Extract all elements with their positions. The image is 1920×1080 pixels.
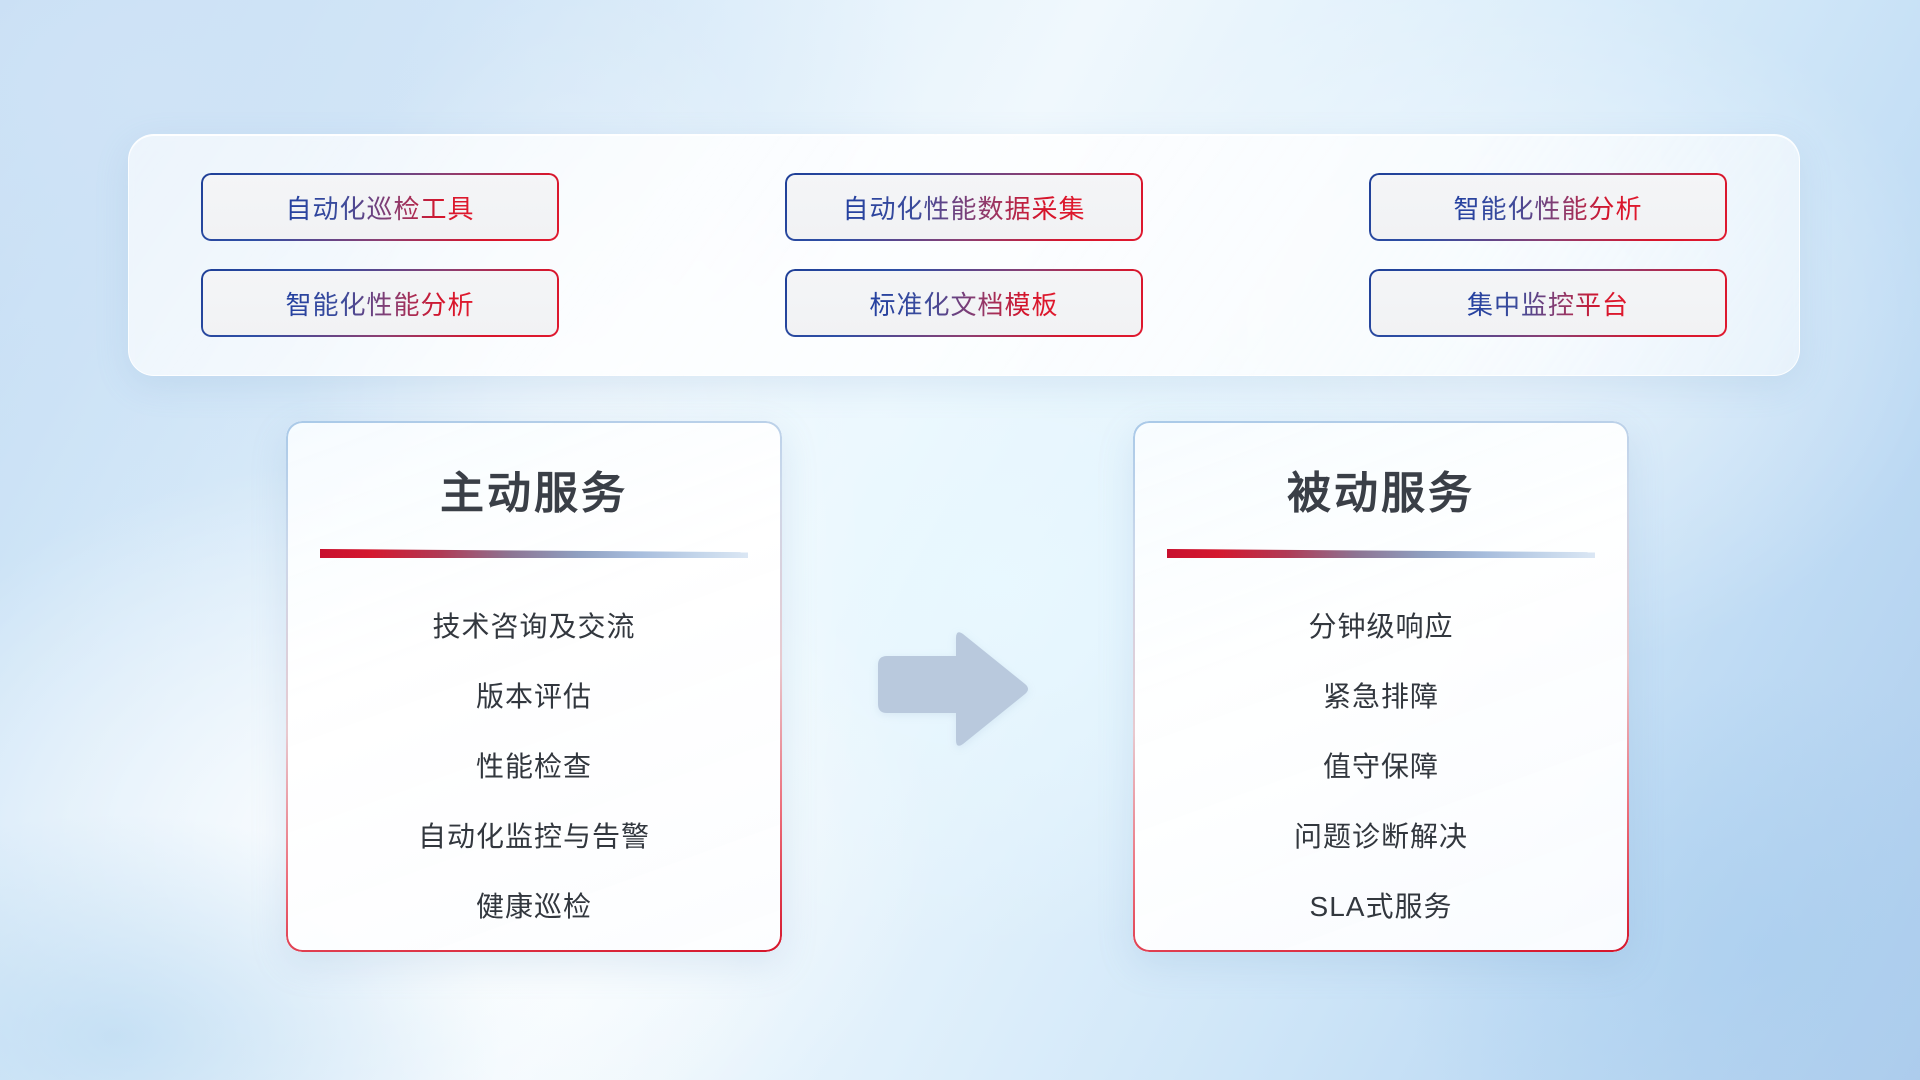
service-card-reactive: 被动服务 分钟级响应 紧急排障 值守保障 问题诊断解决 SLA式服务 [1133, 421, 1629, 952]
capability-pill-centralized-monitoring-platform[interactable]: 集中监控平台 [1369, 269, 1727, 337]
capability-row-1: 自动化巡检工具 自动化性能数据采集 智能化性能分析 [201, 173, 1727, 241]
capability-pill-intelligent-performance-analysis[interactable]: 智能化性能分析 [1369, 173, 1727, 241]
capability-pill-label: 自动化性能数据采集 [842, 189, 1085, 226]
list-item: 性能检查 [476, 732, 592, 802]
list-item: 版本评估 [476, 662, 592, 732]
arrow-right-icon [872, 629, 1032, 749]
list-item: 紧急排障 [1323, 662, 1439, 732]
slide-canvas: 自动化巡检工具 自动化性能数据采集 智能化性能分析 智能化性能分析 标准化文档模… [0, 0, 1920, 1080]
capability-pill-automated-performance-data-collection[interactable]: 自动化性能数据采集 [785, 173, 1143, 241]
card-title: 被动服务 [1133, 457, 1629, 521]
card-title: 主动服务 [286, 457, 782, 521]
capability-pill-label: 自动化巡检工具 [285, 189, 474, 226]
list-item: 技术咨询及交流 [432, 592, 635, 662]
capability-pill-label: 智能化性能分析 [1453, 189, 1642, 226]
list-item: 健康巡检 [476, 872, 592, 942]
capability-pill-intelligent-performance-analysis-2[interactable]: 智能化性能分析 [201, 269, 559, 337]
service-card-proactive: 主动服务 技术咨询及交流 版本评估 性能检查 自动化监控与告警 健康巡检 [286, 421, 782, 952]
capability-pill-label: 集中监控平台 [1467, 285, 1629, 322]
capability-panel: 自动化巡检工具 自动化性能数据采集 智能化性能分析 智能化性能分析 标准化文档模… [128, 134, 1800, 376]
list-item: 值守保障 [1323, 732, 1439, 802]
capability-pill-automated-inspection-tool[interactable]: 自动化巡检工具 [201, 173, 559, 241]
list-item: 自动化监控与告警 [418, 802, 650, 872]
list-item: 问题诊断解决 [1294, 802, 1468, 872]
card-title-divider [1167, 549, 1595, 558]
card-title-divider [320, 549, 748, 558]
capability-pill-label: 标准化文档模板 [869, 285, 1058, 322]
list-item: 分钟级响应 [1308, 592, 1453, 662]
capability-row-2: 智能化性能分析 标准化文档模板 集中监控平台 [201, 269, 1727, 337]
list-item: SLA式服务 [1310, 872, 1453, 942]
card-item-list: 分钟级响应 紧急排障 值守保障 问题诊断解决 SLA式服务 [1133, 592, 1629, 942]
card-item-list: 技术咨询及交流 版本评估 性能检查 自动化监控与告警 健康巡检 [286, 592, 782, 942]
capability-pill-standardized-document-template[interactable]: 标准化文档模板 [785, 269, 1143, 337]
capability-pill-label: 智能化性能分析 [285, 285, 474, 322]
